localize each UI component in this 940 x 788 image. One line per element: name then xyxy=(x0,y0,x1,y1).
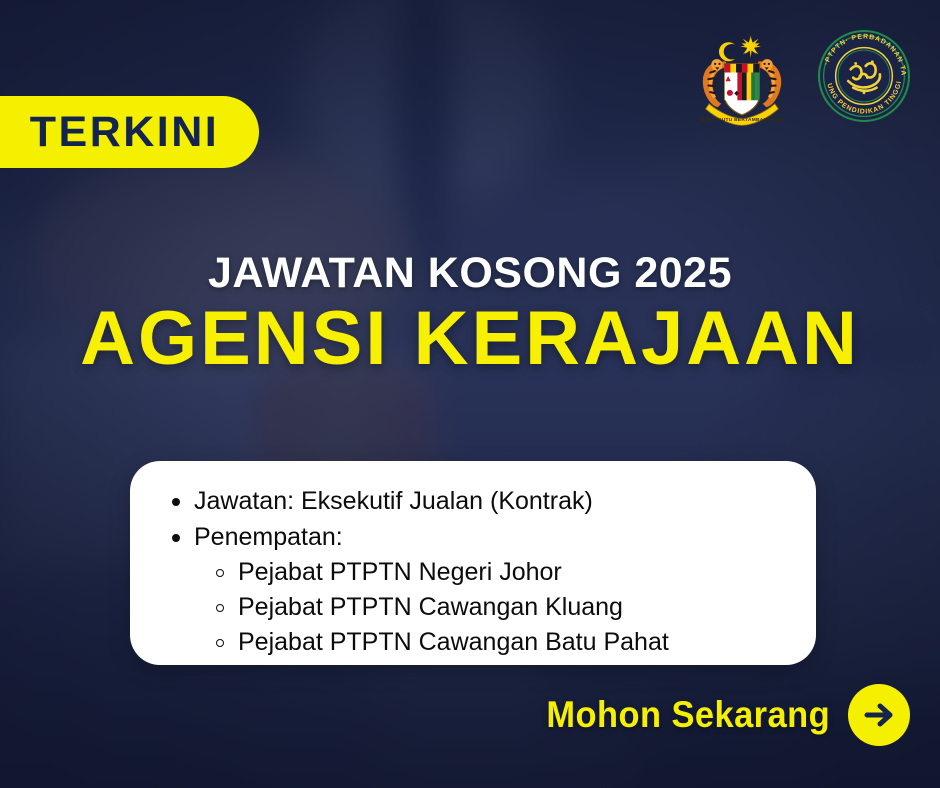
terkini-badge: TERKINI xyxy=(0,96,259,168)
shield-icon xyxy=(725,64,760,115)
arrow-right-icon xyxy=(861,697,897,733)
list-item: Jawatan: Eksekutif Jualan (Kontrak) xyxy=(160,483,786,519)
tiger-right-icon xyxy=(757,59,781,107)
list-item-text: Penempatan: xyxy=(194,523,343,551)
cta-label: Mohon Sekarang xyxy=(546,694,830,736)
list-item: Pejabat PTPTN Cawangan Batu Pahat xyxy=(200,625,786,660)
list-item-text: Jawatan: Eksekutif Jualan (Kontrak) xyxy=(194,487,593,515)
list-item-text: Pejabat PTPTN Negeri Johor xyxy=(238,558,562,586)
logo-group: BERSEKUTU BERTAMBAH MUTU ·PTPTN· PERBADA… xyxy=(690,24,914,128)
apply-now-button[interactable] xyxy=(848,684,910,746)
tiger-left-icon xyxy=(703,59,727,107)
details-card: Jawatan: Eksekutif Jualan (Kontrak) Pene… xyxy=(130,461,816,665)
list-item: Pejabat PTPTN Cawangan Kluang xyxy=(200,590,786,625)
headline-subtitle: JAWATAN KOSONG 2025 xyxy=(0,252,940,295)
headline-title: AGENSI KERAJAAN xyxy=(0,301,940,377)
jata-negara-icon: BERSEKUTU BERTAMBAH MUTU xyxy=(690,24,794,128)
placement-sublist: Pejabat PTPTN Negeri Johor Pejabat PTPTN… xyxy=(194,555,786,660)
details-list: Jawatan: Eksekutif Jualan (Kontrak) Pene… xyxy=(160,483,786,660)
list-item-text: Pejabat PTPTN Cawangan Batu Pahat xyxy=(238,628,669,656)
svg-text:BERSEKUTU BERTAMBAH MUTU: BERSEKUTU BERTAMBAH MUTU xyxy=(700,117,784,123)
list-item: Pejabat PTPTN Negeri Johor xyxy=(200,555,786,590)
terkini-badge-label: TERKINI xyxy=(30,108,220,157)
headline-block: JAWATAN KOSONG 2025 AGENSI KERAJAAN xyxy=(0,252,940,377)
list-item-text: Pejabat PTPTN Cawangan Kluang xyxy=(238,593,623,621)
job-vacancy-poster: BERSEKUTU BERTAMBAH MUTU ·PTPTN· PERBADA… xyxy=(0,0,940,788)
list-item: Penempatan: Pejabat PTPTN Negeri Johor P… xyxy=(160,519,786,660)
ptptn-seal-icon: ·PTPTN· PERBADANAN TAB UNG PENDIDIKAN TI… xyxy=(814,26,914,126)
cta-group[interactable]: Mohon Sekarang xyxy=(525,684,910,746)
